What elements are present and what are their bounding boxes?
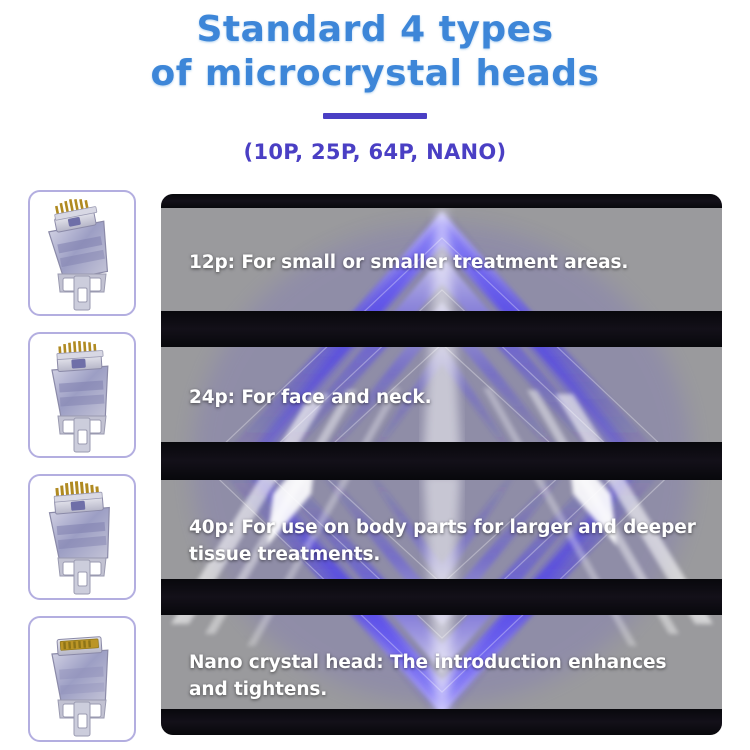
panel-row-12p-text: 12p: For small or smaller treatment area… [189, 249, 696, 276]
page-title-line2: of microcrystal heads [40, 52, 710, 96]
thumbnail-rail [28, 185, 140, 745]
microcrystal-head-12p-icon [30, 192, 134, 314]
panel-row-24p-text: 24p: For face and neck. [189, 384, 696, 411]
panel-row-24p: 24p: For face and neck. [161, 384, 722, 411]
microcrystal-head-40p-icon [30, 476, 134, 598]
feature-panel: 12p: For small or smaller treatment area… [161, 194, 722, 735]
microcrystal-head-24p-icon [30, 334, 134, 456]
page-subtitle: (10P, 25P, 64P, NANO) [0, 119, 750, 164]
microcrystal-head-nano-icon [30, 618, 134, 740]
content-area: 12p: For small or smaller treatment area… [0, 185, 750, 750]
thumbnail-24p[interactable] [28, 332, 136, 458]
page-title: Standard 4 types of microcrystal heads [0, 8, 750, 96]
thumbnail-nano[interactable] [28, 616, 136, 742]
panel-row-40p-text: 40p: For use on body parts for larger an… [189, 514, 696, 568]
page-header: Standard 4 types of microcrystal heads (… [0, 0, 750, 164]
title-divider [323, 113, 427, 119]
panel-row-40p: 40p: For use on body parts for larger an… [161, 514, 722, 568]
thumbnail-40p[interactable] [28, 474, 136, 600]
panel-row-12p: 12p: For small or smaller treatment area… [161, 249, 722, 276]
panel-row-nano: Nano crystal head: The introduction enha… [161, 649, 722, 703]
panel-rows: 12p: For small or smaller treatment area… [161, 194, 722, 735]
page-title-line1: Standard 4 types [196, 9, 553, 50]
panel-row-nano-text: Nano crystal head: The introduction enha… [189, 649, 696, 703]
thumbnail-12p[interactable] [28, 190, 136, 316]
